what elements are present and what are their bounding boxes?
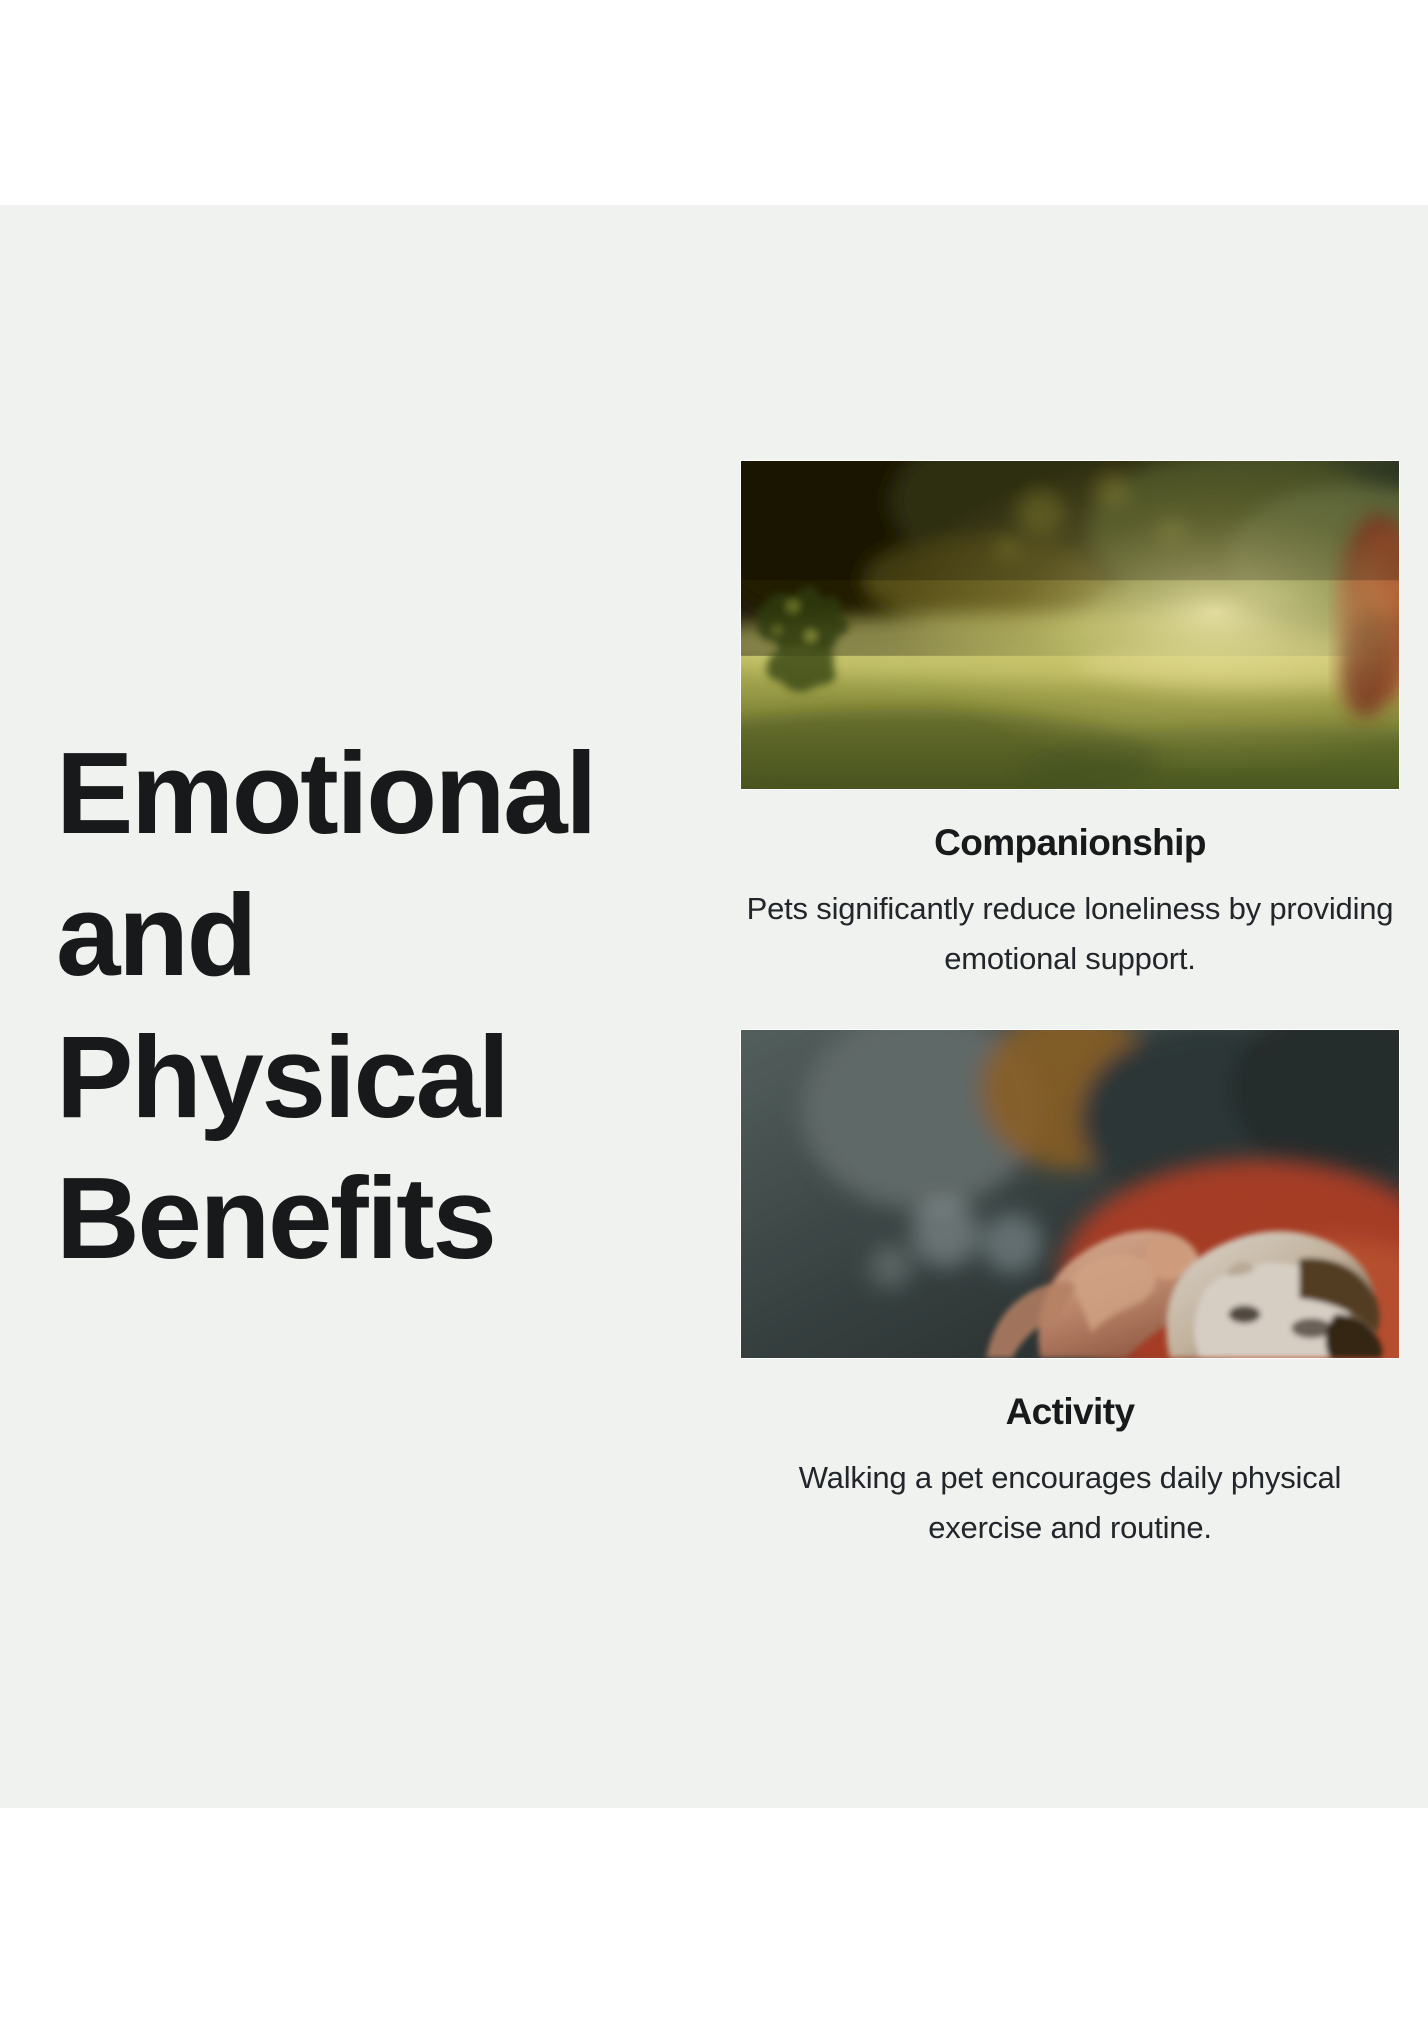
cards-column: Companionship Pets significantly reduce … [720,460,1428,1553]
page-canvas: Emotional and Physical Benefits [0,0,1428,2018]
companionship-title: Companionship [740,820,1400,866]
slide-content: Emotional and Physical Benefits [0,205,1428,1808]
headline-column: Emotional and Physical Benefits [0,723,720,1289]
activity-image [740,1029,1400,1359]
slide: Emotional and Physical Benefits [0,205,1428,1808]
benefit-card-activity[interactable]: Activity Walking a pet encourages daily … [740,1029,1400,1554]
activity-title: Activity [740,1389,1400,1435]
benefit-card-companionship[interactable]: Companionship Pets significantly reduce … [740,460,1400,985]
activity-body: Walking a pet encourages daily physical … [740,1453,1400,1553]
page-title: Emotional and Physical Benefits [56,723,660,1289]
companionship-image [740,460,1400,790]
companionship-body: Pets significantly reduce loneliness by … [740,884,1400,984]
